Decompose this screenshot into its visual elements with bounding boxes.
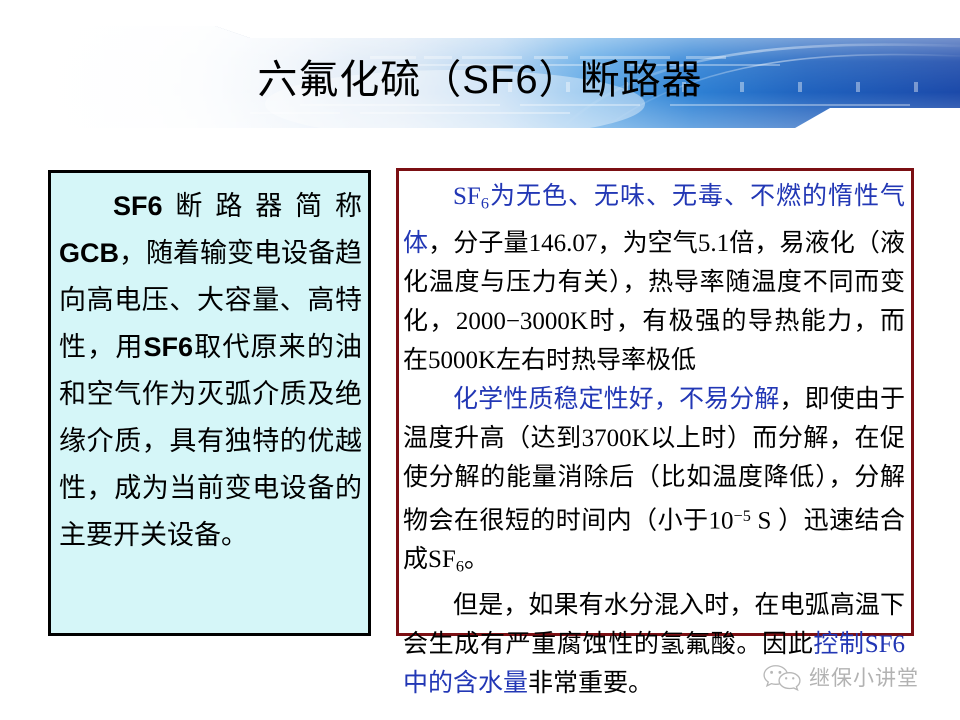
p2-run-sf-subscript: 6 <box>456 557 464 575</box>
right-paragraph-2: 化学性质稳定性好，不易分解，即使由于温度升高（达到3700K以上时）而分解，在促… <box>403 380 905 587</box>
watermark: 继保小讲堂 <box>762 662 919 692</box>
p1-run-sf-subscript: 6 <box>481 195 489 213</box>
left-box-paragraph: SF6断路器简称GCB，随着输变电设备趋向高电压、大容量、高特性，用SF6取代原… <box>59 183 362 559</box>
right-properties-box: SF6为无色、无味、无毒、不燃的惰性气体，分子量146.07，为空气5.1倍，易… <box>396 168 914 636</box>
page-title: 六氟化硫（SF6）断路器 <box>0 54 960 106</box>
p2-run-exponent: −5 <box>734 507 751 525</box>
p3-run-body-b: 非常重要。 <box>528 670 653 697</box>
p2-run-period: 。 <box>464 546 489 573</box>
right-paragraph-1: SF6为无色、无味、无毒、不燃的惰性气体，分子量146.07，为空气5.1倍，易… <box>403 177 905 380</box>
wechat-icon <box>762 662 802 692</box>
left-run-text-a: 断路器简称 <box>163 191 362 221</box>
left-summary-box: SF6断路器简称GCB，随着输变电设备趋向高电压、大容量、高特性，用SF6取代原… <box>48 170 371 636</box>
left-run-sf6-a: SF6 <box>113 191 163 221</box>
header-banner: 六氟化硫（SF6）断路器 <box>0 0 960 150</box>
p1-run-sf-label: SF <box>453 183 481 210</box>
left-run-gcb: GCB <box>59 238 119 268</box>
p2-run-highlight: 化学性质稳定性好，不易分解 <box>453 386 780 413</box>
p1-run-body: ，分子量146.07，为空气5.1倍，易液化（液化温度与压力有关），热导率随温度… <box>403 230 905 374</box>
watermark-label: 继保小讲堂 <box>809 662 919 692</box>
left-run-text-c: 取代原来的油和空气作为灭弧介质及绝缘介质，具有独特的优越性，成为当前变电设备的主… <box>59 332 362 550</box>
left-run-sf6-b: SF6 <box>144 332 194 362</box>
